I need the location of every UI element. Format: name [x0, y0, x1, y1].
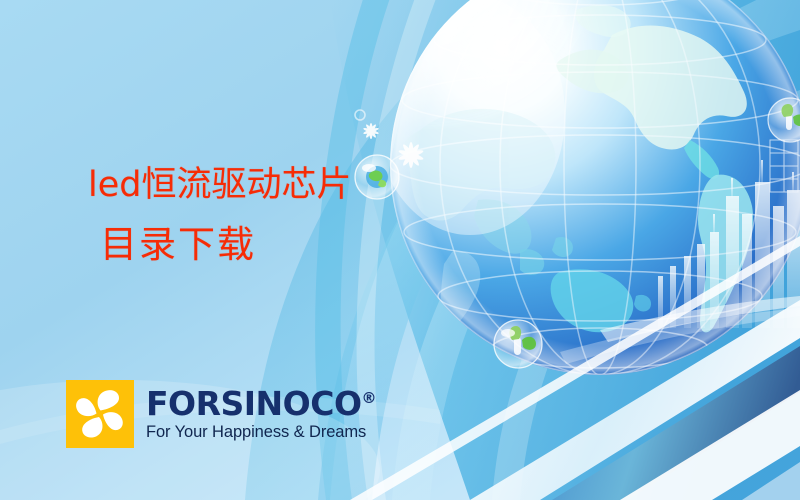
- headline-line-2: 目录下载: [100, 226, 418, 264]
- logo-tagline: For Your Happiness & Dreams: [146, 423, 377, 441]
- bubble-with-green-sprout: [494, 320, 542, 368]
- headline-line-1: led恒流驱动芯片: [88, 168, 418, 204]
- company-logo[interactable]: FORSINOCO® For Your Happiness & Dreams: [66, 380, 377, 448]
- registered-trademark-icon: ®: [362, 389, 377, 407]
- headline-text: led恒流驱动芯片 目录下载: [88, 168, 418, 263]
- logo-company-name: FORSINOCO®: [146, 387, 377, 420]
- banner-canvas: led恒流驱动芯片 目录下载 FORSINOCO® For Your Happi…: [0, 0, 800, 500]
- logo-name-text: FORSINOCO: [146, 384, 362, 423]
- logo-wordmark: FORSINOCO® For Your Happiness & Dreams: [146, 387, 377, 441]
- four-petal-pinwheel-icon: [66, 380, 134, 448]
